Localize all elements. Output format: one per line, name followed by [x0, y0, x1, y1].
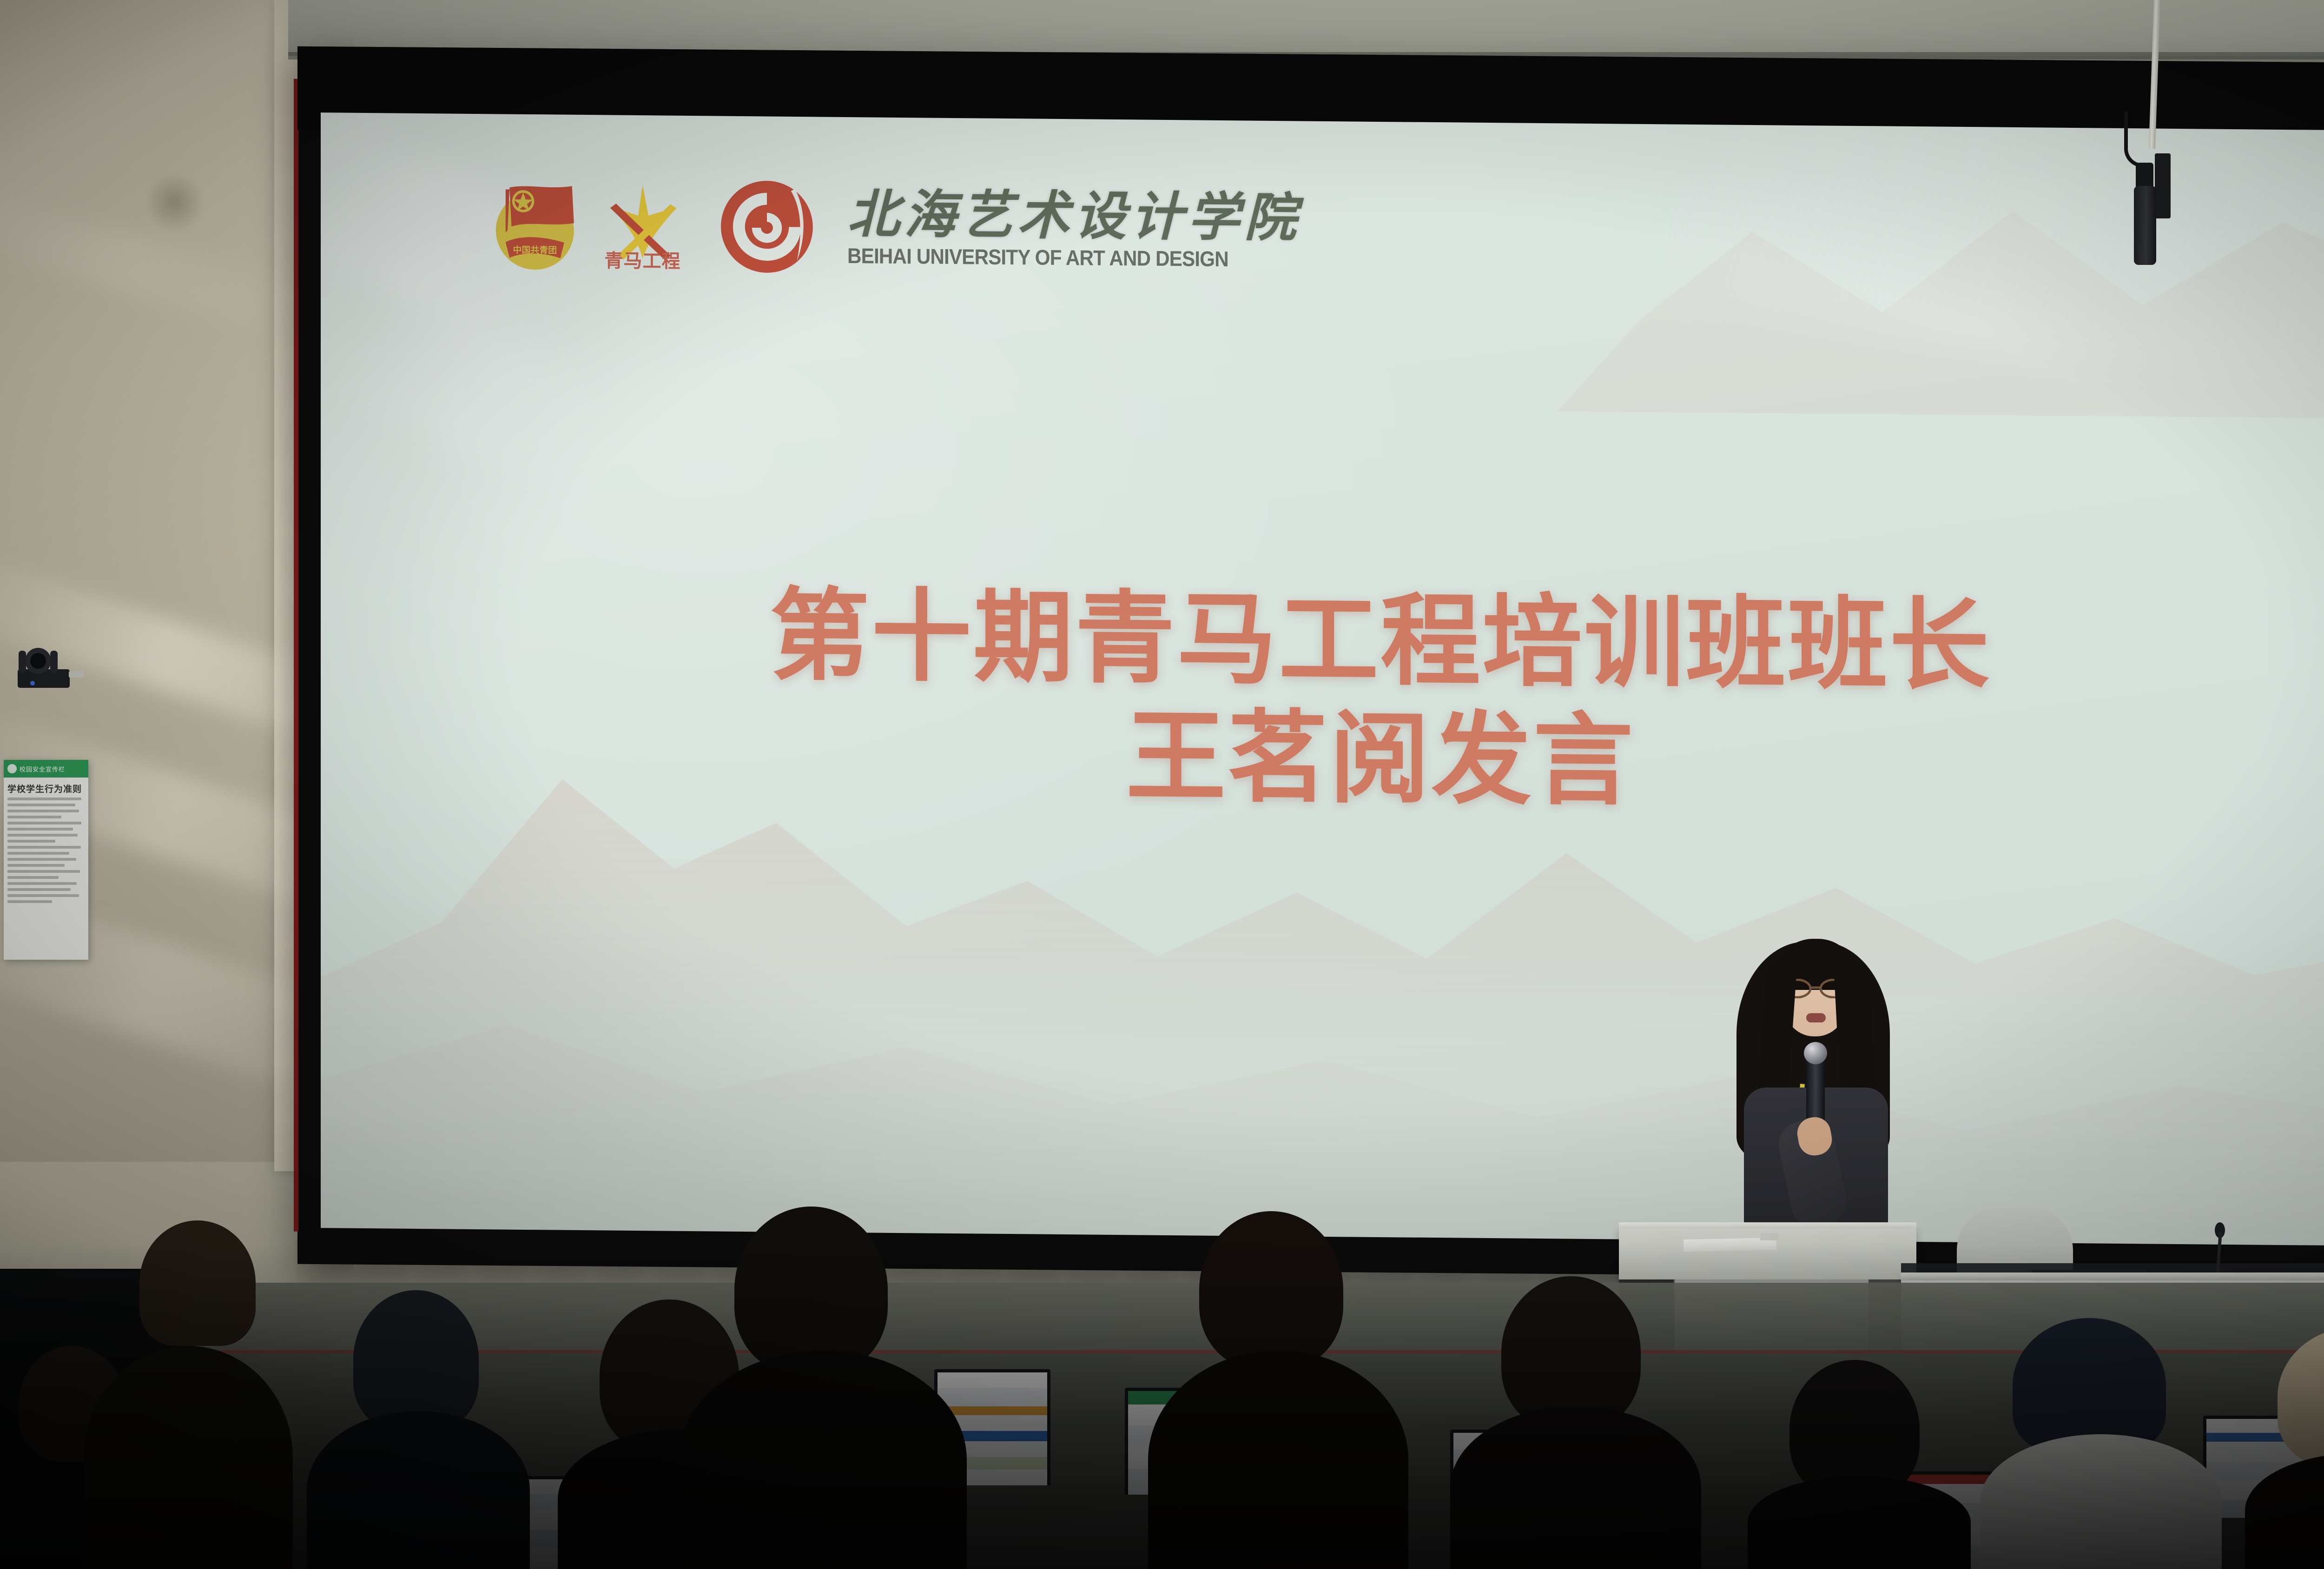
poster-body-text	[4, 798, 88, 903]
slide-title-line-2: 王茗阅发言	[321, 691, 2324, 827]
audience-member-3-body	[307, 1411, 530, 1569]
audience-member-9-body	[1980, 1434, 2222, 1569]
presenter	[1715, 920, 1915, 1255]
wall-smudge	[144, 172, 205, 232]
lectern-microphone-icon	[1760, 1233, 1779, 1240]
screen-red-edge	[294, 79, 298, 1232]
hanging-microphone-arm	[2155, 153, 2171, 218]
presenter-mouth	[1806, 1013, 1826, 1022]
svg-text:中国共青团: 中国共青团	[513, 244, 557, 256]
slide-logo-row: 中国共青团 青马工程 北海艺术设计学院 BEIHAI UNI	[488, 174, 1301, 281]
audience-member-2-body	[84, 1346, 293, 1569]
poster-header: 校园安全宣传栏	[4, 760, 88, 778]
ptz-camera-left-icon[interactable]	[9, 642, 84, 693]
university-name-cn: 北海艺术设计学院	[847, 187, 1301, 245]
slide-title-line-1: 第十期青马工程培训班班长	[321, 573, 2324, 709]
mountain-watermark-top-right	[1557, 123, 2324, 419]
slide-title: 第十期青马工程培训班班长 王茗阅发言	[321, 573, 2324, 827]
hanging-microphone-cable	[2124, 112, 2152, 167]
poster-title: 学校学生行为准则	[4, 778, 88, 798]
lower-wall-band	[0, 1283, 2324, 1357]
fur-hat-icon	[139, 1220, 256, 1346]
screen-glare	[335, 286, 604, 490]
poster-header-text: 校园安全宣传栏	[20, 765, 65, 773]
hanging-ceiling-microphone-icon	[2134, 186, 2156, 265]
audience-member-8-body	[1748, 1476, 1971, 1569]
beanie-icon	[2013, 1318, 2166, 1453]
wall-poster: 校园安全宣传栏 学校学生行为准则	[4, 760, 88, 960]
audience-member-6	[1199, 1211, 1343, 1369]
projected-slide: 中国共青团 青马工程 北海艺术设计学院 BEIHAI UNI	[321, 112, 2324, 1246]
audience-member-6-body	[1148, 1351, 1408, 1569]
microphone-head-icon	[1804, 1042, 1827, 1064]
audience-member-7-body	[1450, 1406, 1701, 1569]
audience-member-3	[353, 1290, 479, 1430]
qingma-star-mark: 青马工程	[604, 181, 681, 270]
communist-youth-league-emblem-icon: 中国共青团	[488, 174, 586, 275]
beihai-university-spiral-logo-icon	[713, 176, 820, 277]
poster-logo-icon	[7, 764, 17, 773]
university-name-en: BEIHAI UNIVERSITY OF ART AND DESIGN	[847, 243, 1265, 272]
ceiling-band	[288, 0, 2324, 56]
audience-member-5	[734, 1206, 888, 1374]
university-name-block: 北海艺术设计学院 BEIHAI UNIVERSITY OF ART AND DE…	[847, 187, 1301, 272]
audience-member-5-body	[679, 1351, 967, 1569]
qingma-caption: 青马工程	[605, 245, 681, 273]
lecture-hall-scene: 中国共青团 青马工程 北海艺术设计学院 BEIHAI UNI	[0, 0, 2324, 1569]
